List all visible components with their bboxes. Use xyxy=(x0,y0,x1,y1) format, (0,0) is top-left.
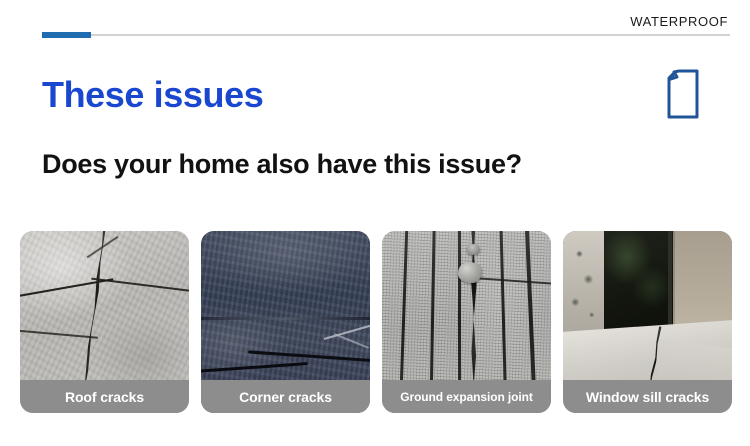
page-subtitle: Does your home also have this issue? xyxy=(42,147,522,181)
card-caption-bar: Corner cracks xyxy=(201,380,370,413)
window-frame xyxy=(668,231,672,333)
crack-line xyxy=(91,277,189,292)
card-caption-label: Corner cracks xyxy=(239,389,332,405)
card-caption-bar: Ground expansion joint xyxy=(382,380,551,413)
window-opening xyxy=(602,231,673,333)
crack-line xyxy=(334,333,369,349)
issue-card-ground-expansion-joint[interactable]: Ground expansion joint xyxy=(382,231,551,413)
card-caption-label: Roof cracks xyxy=(65,389,144,405)
card-caption-bar: Window sill cracks xyxy=(563,380,732,413)
slide-root: WATERPROOF These issues Does your home a… xyxy=(0,0,750,446)
header-divider xyxy=(42,34,730,36)
cracked-panel-icon xyxy=(663,68,703,120)
header-accent-bar xyxy=(42,32,91,38)
crack-line xyxy=(248,350,370,362)
crack-line xyxy=(20,279,114,299)
card-caption-label: Window sill cracks xyxy=(586,389,709,405)
issue-card-window-sill-cracks[interactable]: Window sill cracks xyxy=(563,231,732,413)
header-label: WATERPROOF xyxy=(630,14,728,29)
card-caption-bar: Roof cracks xyxy=(20,380,189,413)
issue-card-roof-cracks[interactable]: Roof cracks xyxy=(20,231,189,413)
pebble xyxy=(458,262,482,283)
issue-card-list: Roof cracks Corner cracks xyxy=(20,231,732,413)
crack-line xyxy=(20,329,98,338)
crack-line xyxy=(475,277,551,285)
seam-line xyxy=(201,317,370,320)
crack-line xyxy=(201,362,307,373)
page-title: These issues xyxy=(42,73,263,117)
slide-header: WATERPROOF xyxy=(0,0,750,46)
pebble xyxy=(467,244,480,255)
issue-card-corner-cracks[interactable]: Corner cracks xyxy=(201,231,370,413)
card-caption-label: Ground expansion joint xyxy=(400,390,532,404)
